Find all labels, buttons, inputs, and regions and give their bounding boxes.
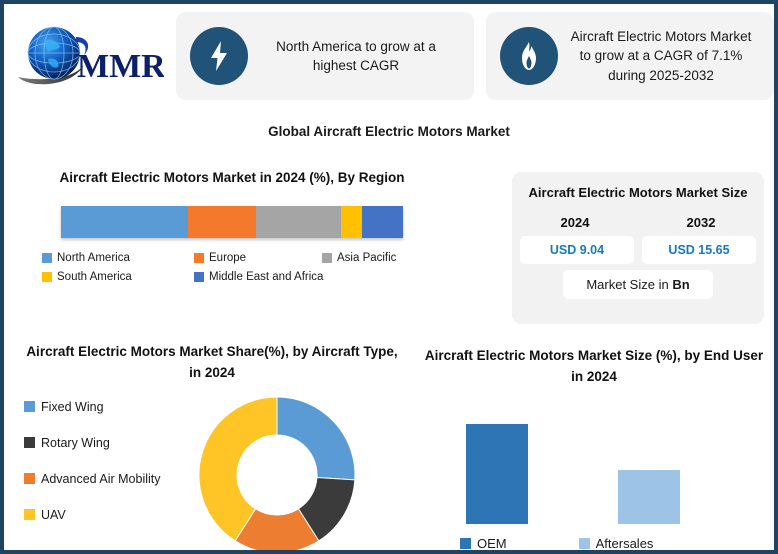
donut-slice [277, 397, 355, 480]
legend-label: North America [57, 252, 130, 264]
region-stacked-bar [61, 206, 403, 238]
header-badge-text-0: North America to grow at a highest CAGR [248, 37, 464, 75]
legend-swatch-icon [42, 272, 52, 282]
end-user-legend: OEM Aftersales [416, 536, 772, 554]
end-user-plot [416, 402, 772, 524]
legend-item: Middle East and Africa [194, 271, 394, 283]
legend-item: Rotary Wing [24, 436, 161, 450]
region-share-chart: Aircraft Electric Motors Market in 2024 … [22, 168, 442, 290]
market-size-value-2032: USD 15.65 [642, 236, 756, 264]
main-title: Global Aircraft Electric Motors Market [4, 124, 774, 139]
market-size-year-2024: 2024 [512, 215, 638, 230]
globe-swoosh-logo: MMR [14, 21, 164, 91]
legend-swatch-icon [460, 538, 471, 549]
legend-item: OEM [460, 536, 507, 551]
legend-label: Asia Pacific [337, 252, 396, 264]
aircraft-type-chart: Aircraft Electric Motors Market Share(%)… [12, 342, 412, 554]
market-size-years: 2024 2032 [512, 215, 764, 230]
infographic-frame: MMR North America to grow at a highest C… [0, 0, 778, 554]
header-badge-cagr: Aircraft Electric Motors Market to grow … [486, 12, 774, 100]
market-size-unit-prefix: Market Size in [586, 277, 672, 292]
market-size-panel: Aircraft Electric Motors Market Size 202… [512, 172, 764, 324]
mmr-logo-text: MMR [77, 48, 164, 85]
legend-item: Aftersales [579, 536, 654, 551]
legend-item: South America [42, 271, 194, 283]
legend-swatch-icon [194, 272, 204, 282]
legend-swatch-icon [24, 437, 35, 448]
bar-segment-south-america [341, 206, 362, 238]
donut-chart-graphic [192, 390, 362, 554]
legend-swatch-icon [24, 509, 35, 520]
lightning-bolt-icon [190, 27, 248, 85]
bar-segment-europe [188, 206, 256, 238]
legend-label: Advanced Air Mobility [41, 472, 161, 486]
bar-segment-north-america [61, 206, 188, 238]
legend-swatch-icon [322, 253, 332, 263]
donut-legend: Fixed Wing Rotary Wing Advanced Air Mobi… [24, 400, 161, 544]
market-size-values: USD 9.04 USD 15.65 [512, 236, 764, 264]
mmr-logo: MMR [4, 6, 174, 106]
legend-label: Rotary Wing [41, 436, 110, 450]
legend-swatch-icon [24, 401, 35, 412]
region-chart-title: Aircraft Electric Motors Market in 2024 … [42, 168, 422, 188]
legend-swatch-icon [24, 473, 35, 484]
legend-item: Asia Pacific [322, 252, 432, 264]
bar-oem [466, 424, 528, 524]
legend-label: OEM [477, 536, 507, 551]
legend-label: Fixed Wing [41, 400, 104, 414]
market-size-unit: Bn [672, 277, 689, 292]
legend-item: North America [42, 252, 194, 264]
end-user-chart-title: Aircraft Electric Motors Market Size (%)… [424, 346, 764, 388]
legend-label: Aftersales [596, 536, 654, 551]
donut-chart-title: Aircraft Electric Motors Market Share(%)… [22, 342, 402, 384]
end-user-chart: Aircraft Electric Motors Market Size (%)… [416, 346, 772, 554]
bar-segment-asia-pacific [256, 206, 342, 238]
legend-item: UAV [24, 508, 161, 522]
bar-aftersales [618, 470, 680, 524]
market-size-title: Aircraft Electric Motors Market Size [512, 184, 764, 203]
legend-label: UAV [41, 508, 66, 522]
header: MMR North America to grow at a highest C… [4, 4, 774, 108]
legend-swatch-icon [42, 253, 52, 263]
legend-swatch-icon [194, 253, 204, 263]
flame-icon [500, 27, 558, 85]
legend-item: Advanced Air Mobility [24, 472, 161, 486]
market-size-year-2032: 2032 [638, 215, 764, 230]
donut-chart-body: Fixed Wing Rotary Wing Advanced Air Mobi… [12, 390, 412, 554]
legend-label: Middle East and Africa [209, 271, 323, 283]
legend-swatch-icon [579, 538, 590, 549]
market-size-unit-note: Market Size in Bn [563, 270, 713, 299]
market-size-value-2024: USD 9.04 [520, 236, 634, 264]
legend-item: Europe [194, 252, 322, 264]
legend-item: Fixed Wing [24, 400, 161, 414]
header-badge-text-1: Aircraft Electric Motors Market to grow … [558, 27, 764, 84]
legend-label: South America [57, 271, 132, 283]
header-badge-north-america: North America to grow at a highest CAGR [176, 12, 474, 100]
region-legend: North America Europe Asia Pacific South … [42, 252, 442, 290]
legend-label: Europe [209, 252, 246, 264]
bar-segment-middle-east-africa [362, 206, 403, 238]
